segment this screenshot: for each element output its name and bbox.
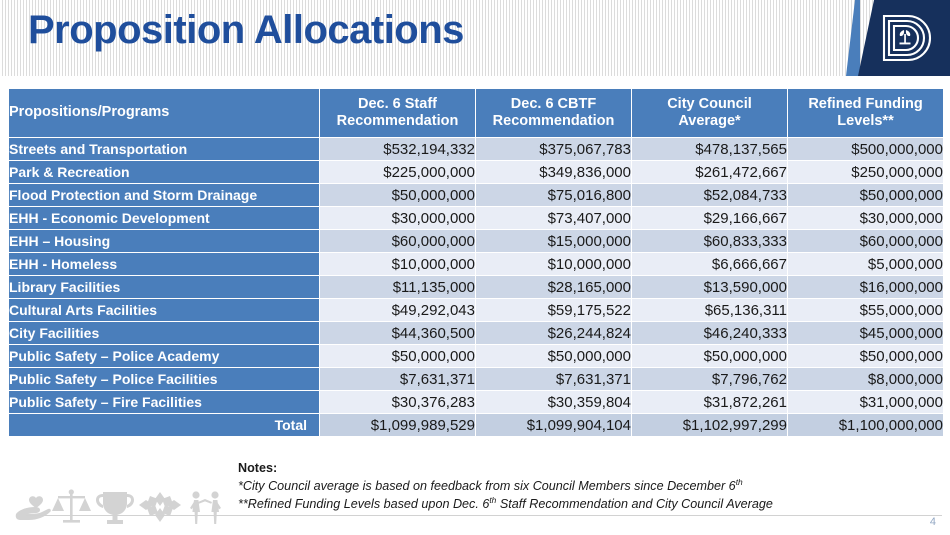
table-row: EHH - Economic Development$30,000,000$73… [9, 207, 943, 229]
note-1-superscript: th [736, 477, 743, 487]
row-label: Park & Recreation [9, 161, 319, 183]
table-row: EHH - Homeless$10,000,000$10,000,000$6,6… [9, 253, 943, 275]
total-label: Total [9, 414, 319, 436]
cell-city-council-average: $478,137,565 [632, 138, 787, 160]
row-label: Public Safety – Police Facilities [9, 368, 319, 390]
footer-divider [26, 515, 942, 516]
notes-title: Notes: [238, 460, 938, 478]
cell-city-council-average: $13,590,000 [632, 276, 787, 298]
cell-staff-recommendation: $7,631,371 [320, 368, 475, 390]
cell-refined-funding-level: $30,000,000 [788, 207, 943, 229]
cell-city-council-average: $60,833,333 [632, 230, 787, 252]
cell-staff-recommendation: $49,292,043 [320, 299, 475, 321]
note-2-text-tail: Staff Recommendation and City Council Av… [496, 497, 773, 511]
row-label: Public Safety – Police Academy [9, 345, 319, 367]
hand-heart-icon [16, 496, 51, 520]
cell-staff-recommendation: $44,360,500 [320, 322, 475, 344]
cell-cbtf-recommendation: $10,000,000 [476, 253, 631, 275]
cell-city-council-average: $65,136,311 [632, 299, 787, 321]
table-row: Streets and Transportation$532,194,332$3… [9, 138, 943, 160]
table-row: Flood Protection and Storm Drainage$50,0… [9, 184, 943, 206]
column-header-propositions: Propositions/Programs [9, 89, 319, 137]
table-body: Streets and Transportation$532,194,332$3… [9, 138, 943, 436]
cell-city-council-average: $50,000,000 [632, 345, 787, 367]
cell-staff-recommendation: $50,000,000 [320, 184, 475, 206]
logo-container [838, 0, 950, 76]
row-label: Flood Protection and Storm Drainage [9, 184, 319, 206]
cell-city-council-average: $46,240,333 [632, 322, 787, 344]
cell-refined-funding-level: $60,000,000 [788, 230, 943, 252]
column-header-refined-funding-levels: Refined Funding Levels** [788, 89, 943, 137]
allocations-table-container: Propositions/Programs Dec. 6 Staff Recom… [8, 88, 942, 437]
cell-staff-recommendation: $225,000,000 [320, 161, 475, 183]
cell-staff-recommendation: $60,000,000 [320, 230, 475, 252]
cell-refined-funding-level: $250,000,000 [788, 161, 943, 183]
table-row: City Facilities$44,360,500$26,244,824$46… [9, 322, 943, 344]
cell-staff-recommendation: $11,135,000 [320, 276, 475, 298]
footer-icon-strip [8, 484, 228, 530]
cell-cbtf-recommendation: $15,000,000 [476, 230, 631, 252]
row-label: Public Safety – Fire Facilities [9, 391, 319, 413]
column-header-city-council-average: City Council Average* [632, 89, 787, 137]
note-line-2: **Refined Funding Levels based upon Dec.… [238, 496, 938, 514]
cell-cbtf-recommendation: $26,244,824 [476, 322, 631, 344]
cell-staff-recommendation: $50,000,000 [320, 345, 475, 367]
notes-block: Notes: *City Council average is based on… [238, 460, 938, 514]
cell-cbtf-recommendation: $73,407,000 [476, 207, 631, 229]
star-pattern-icon [139, 492, 181, 522]
cell-city-council-average: $261,472,667 [632, 161, 787, 183]
cell-staff-recommendation: $30,376,283 [320, 391, 475, 413]
city-of-dallas-logo-icon [878, 12, 932, 64]
trophy-icon [96, 492, 134, 524]
column-header-cbtf-recommendation: Dec. 6 CBTF Recommendation [476, 89, 631, 137]
cell-refined-funding-level: $16,000,000 [788, 276, 943, 298]
row-label: EHH - Homeless [9, 253, 319, 275]
cell-refined-funding-level: $55,000,000 [788, 299, 943, 321]
cell-staff-recommendation: $30,000,000 [320, 207, 475, 229]
table-row: Park & Recreation$225,000,000$349,836,00… [9, 161, 943, 183]
cell-refined-funding-level: $500,000,000 [788, 138, 943, 160]
cell-refined-funding-level: $8,000,000 [788, 368, 943, 390]
row-label: EHH – Housing [9, 230, 319, 252]
table-row: Cultural Arts Facilities$49,292,043$59,1… [9, 299, 943, 321]
cell-city-council-average: $52,084,733 [632, 184, 787, 206]
total-cell-cbtf-recommendation: $1,099,904,104 [476, 414, 631, 436]
two-people-icon [190, 491, 221, 524]
cell-refined-funding-level: $5,000,000 [788, 253, 943, 275]
total-cell-city-council-average: $1,102,997,299 [632, 414, 787, 436]
cell-cbtf-recommendation: $375,067,783 [476, 138, 631, 160]
row-label: Library Facilities [9, 276, 319, 298]
table-row: EHH – Housing$60,000,000$15,000,000$60,8… [9, 230, 943, 252]
column-header-staff-recommendation: Dec. 6 Staff Recommendation [320, 89, 475, 137]
cell-cbtf-recommendation: $7,631,371 [476, 368, 631, 390]
cell-cbtf-recommendation: $28,165,000 [476, 276, 631, 298]
scales-of-justice-icon [52, 489, 91, 522]
row-label: Streets and Transportation [9, 138, 319, 160]
note-2-text: **Refined Funding Levels based upon Dec.… [238, 497, 489, 511]
cell-staff-recommendation: $10,000,000 [320, 253, 475, 275]
cell-cbtf-recommendation: $75,016,800 [476, 184, 631, 206]
cell-cbtf-recommendation: $349,836,000 [476, 161, 631, 183]
cell-refined-funding-level: $31,000,000 [788, 391, 943, 413]
table-row: Public Safety – Fire Facilities$30,376,2… [9, 391, 943, 413]
cell-cbtf-recommendation: $59,175,522 [476, 299, 631, 321]
table-row: Public Safety – Police Facilities$7,631,… [9, 368, 943, 390]
table-row: Public Safety – Police Academy$50,000,00… [9, 345, 943, 367]
total-cell-staff-recommendation: $1,099,989,529 [320, 414, 475, 436]
table-header-row: Propositions/Programs Dec. 6 Staff Recom… [9, 89, 943, 137]
row-label: EHH - Economic Development [9, 207, 319, 229]
cell-cbtf-recommendation: $50,000,000 [476, 345, 631, 367]
cell-refined-funding-level: $45,000,000 [788, 322, 943, 344]
cell-cbtf-recommendation: $30,359,804 [476, 391, 631, 413]
table-row: Library Facilities$11,135,000$28,165,000… [9, 276, 943, 298]
footer-icons-svg [8, 484, 228, 530]
note-1-text: *City Council average is based on feedba… [238, 479, 736, 493]
total-cell-refined-funding-level: $1,100,000,000 [788, 414, 943, 436]
cell-city-council-average: $6,666,667 [632, 253, 787, 275]
cell-city-council-average: $29,166,667 [632, 207, 787, 229]
slide-header: Proposition Allocations [0, 0, 950, 76]
cell-city-council-average: $7,796,762 [632, 368, 787, 390]
page-title: Proposition Allocations [28, 8, 464, 53]
table-header: Propositions/Programs Dec. 6 Staff Recom… [9, 89, 943, 137]
row-label: City Facilities [9, 322, 319, 344]
table-total-row: Total$1,099,989,529$1,099,904,104$1,102,… [9, 414, 943, 436]
note-line-1: *City Council average is based on feedba… [238, 478, 938, 496]
row-label: Cultural Arts Facilities [9, 299, 319, 321]
cell-refined-funding-level: $50,000,000 [788, 184, 943, 206]
cell-city-council-average: $31,872,261 [632, 391, 787, 413]
allocations-table: Propositions/Programs Dec. 6 Staff Recom… [8, 88, 944, 437]
cell-refined-funding-level: $50,000,000 [788, 345, 943, 367]
cell-staff-recommendation: $532,194,332 [320, 138, 475, 160]
page-number: 4 [930, 516, 936, 528]
logo-accent-bar [846, 0, 860, 76]
